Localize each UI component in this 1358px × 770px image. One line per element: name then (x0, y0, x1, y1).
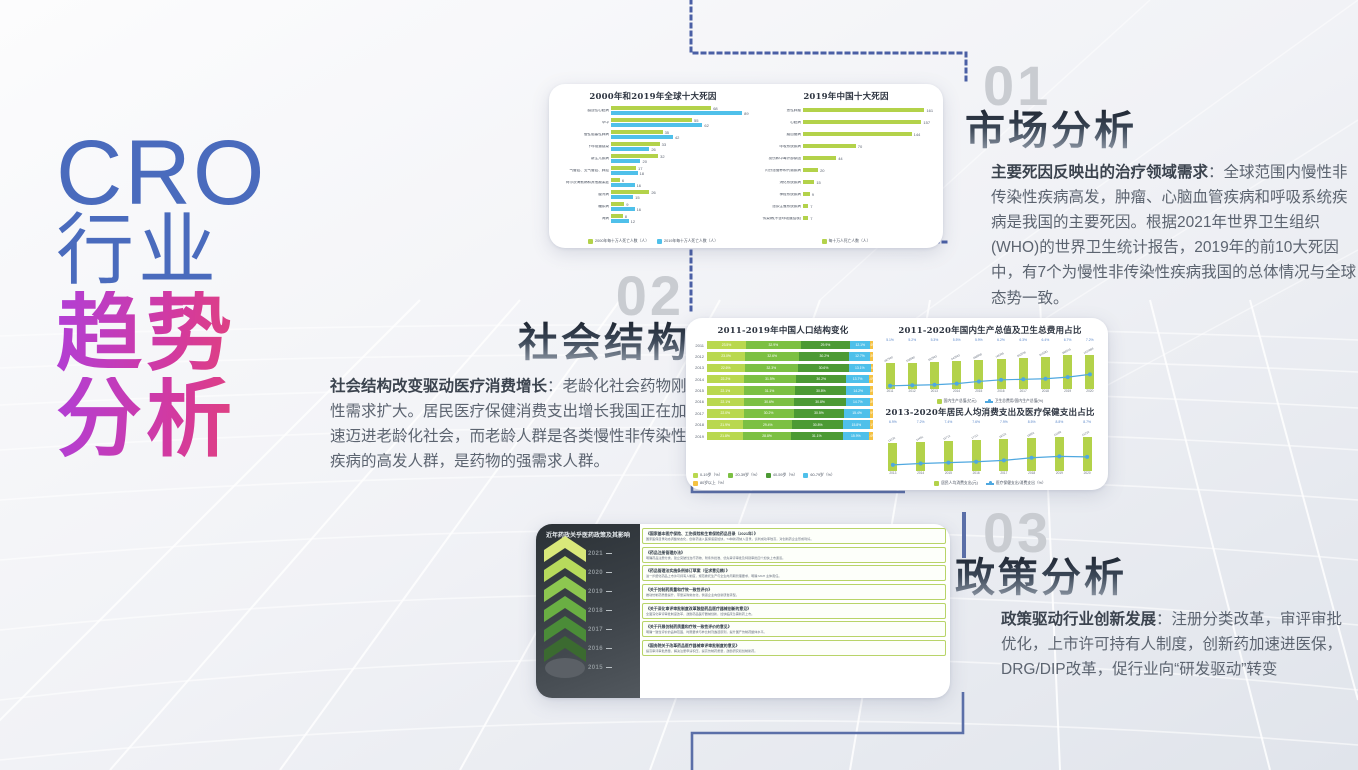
chart-china-top10-legend: 每十万人死亡人数（人） (757, 239, 935, 244)
connector-solid-bottom (692, 692, 963, 770)
legend-label: 0-19岁（%） (700, 473, 722, 478)
chart-x-tick: 2020 (1086, 389, 1093, 397)
section-02-body: 社会结构改变驱动医疗消费增长：老龄化社会药物刚性需求扩大。居民医疗保健消费支出增… (330, 374, 690, 474)
chart-bar-row: 气管癌、支气管癌、肺癌1718 (555, 165, 751, 176)
chart-bar-value: 9 (812, 193, 814, 197)
policy-item-detail: 推动仿制药质量提升，带量采购常态化，倒逼企业向创新研发转型。 (646, 593, 942, 597)
policy-item-detail: 提高审评审批质量，解决注册申请积压，提高仿制药质量，鼓励研究和创制新药。 (646, 649, 942, 653)
title-line-qushi: 趋势 (56, 291, 356, 375)
chart-bar (803, 120, 921, 124)
stacked-bar: 21.8%28.8%31.1%15.9%2.4% (707, 432, 873, 441)
chart-bar-track: 144 (803, 129, 935, 140)
chart-bar-value: 89 (744, 112, 748, 116)
timeline-year-label: 2017 (588, 627, 603, 633)
chart-bar-row: 传染病(不含呼吸道结核)7 (757, 213, 935, 224)
chart-bar-value: 6 (622, 179, 624, 183)
chart-bar-track: 916 (611, 201, 751, 212)
timeline-year: 2021 (588, 544, 638, 563)
chart-bar-value: 9 (626, 203, 628, 207)
chart-bar (803, 168, 818, 172)
chart-bar (611, 207, 635, 211)
chart-bar-track: 3220 (611, 153, 751, 164)
chart-bar (611, 166, 636, 170)
chart-bar-track: 6889 (611, 105, 751, 116)
legend-label: 20-39岁（%） (735, 473, 759, 478)
chart-bar-label: 恶性肿瘤 (757, 109, 803, 113)
legend-swatch-icon (588, 239, 593, 244)
chart-bar (611, 190, 649, 194)
stacked-bar-segment: 22.2% (707, 375, 744, 384)
chart-bar (611, 130, 663, 134)
stacked-bar-segment: 21.8% (707, 432, 743, 441)
policy-timeline-left: 近年药政关乎医药政策及其影响 2021202020192018201720162… (536, 524, 640, 698)
chart-bar-track: 70 (803, 141, 935, 152)
chart-bar-row: 缺血性心脏病6889 (555, 105, 751, 116)
stacked-bar-segment: 12.1% (850, 341, 870, 350)
timeline-year-label: 2019 (588, 589, 603, 595)
chart-bar-track: 44 (803, 153, 935, 164)
policy-item-heading: 《国家基本医疗保险、工伤保险和生育保险药品目录（2021年）》 (646, 531, 942, 536)
chart-bar-value: 8 (625, 215, 627, 219)
chart-gdp-health: 2011-2020年国内生产总值及卫生总费用占比 5.1%5.2%5.3%5.5… (879, 324, 1101, 404)
timeline-tick-icon (606, 591, 612, 592)
chart-population-structure: 2011-2019年中国人口结构变化 201123.5%32.9%29.9%12… (693, 324, 873, 486)
stacked-bar-segment: 30.8% (792, 420, 843, 429)
policy-item[interactable]: 《关于开展仿制药质量和疗效一致性评价的意见》明确一致性评价的品种范围、时限要求与… (642, 621, 946, 637)
policy-item[interactable]: 《国务院关于改革药品医疗器械审评审批制度的意见》提高审评审批质量，解决注册申请积… (642, 640, 946, 656)
chart-global-top10: 2000年和2019年全球十大死因 缺血性心脏病6889卒中5562慢性阻塞性肺… (555, 90, 751, 244)
timeline-year-label: 2018 (588, 608, 603, 614)
chart-x-axis: 2011201220132014201520162017201820192020 (879, 389, 1101, 397)
chart-line-overlay (879, 420, 1101, 490)
chart-bar-label: 肾病 (555, 217, 611, 221)
chart-bar (803, 156, 836, 160)
chart-x-tick: 2014 (953, 389, 960, 397)
chart-population-structure-legend: 0-19岁（%）20-39岁（%）40-59岁（%）60-79岁（%）80岁以上… (693, 473, 873, 486)
section-02-lead: 社会结构改变驱动医疗消费增长 (330, 378, 547, 395)
title-line-fenxi: 分析 (56, 377, 356, 461)
chart-x-tick: 2013 (889, 471, 896, 479)
chart-bar-label: 心脏病 (757, 121, 803, 125)
chart-bar (803, 216, 808, 220)
section-01-heading: 市场分析 (965, 108, 1357, 154)
chart-bar-row: 恶性肿瘤161 (757, 105, 935, 116)
chart-bar (803, 204, 808, 208)
chart-bar (611, 123, 702, 127)
chart-bar (611, 142, 660, 146)
timeline-year-label: 2020 (588, 570, 603, 576)
stacked-bar-year: 2014 (693, 377, 707, 382)
stacked-bar: 22.2%31.5%30.2%13.7%2.4% (707, 375, 873, 384)
chart-china-top10: 2019年中国十大死因 恶性肿瘤161心脏病157脑血管病144呼吸系统疾病70… (751, 90, 935, 244)
policy-item[interactable]: 《关于仿制药质量和疗效一致性评价》推动仿制药质量提升，带量采购常态化，倒逼企业向… (642, 584, 946, 600)
chart-x-tick: 2017 (1000, 471, 1007, 479)
section-01-body: 主要死因反映出的治疗领域需求：全球范围内慢性非传染性疾病高发，肿瘤、心脑血管疾病… (991, 160, 1357, 311)
timeline-chevrons (544, 536, 586, 692)
stacked-bar-segment: 15.4% (844, 409, 870, 418)
legend-item-3: 60-79岁（%） (803, 473, 834, 478)
chart-bar-label: 慢性阻塞性肺病 (555, 133, 611, 137)
section-03: 03 政策分析 政策驱动行业创新发展：注册分类改革，审评审批优化，上市许可持有人… (955, 505, 1355, 682)
stacked-bar-row: 201422.2%31.5%30.2%13.7%2.4% (693, 374, 873, 384)
policy-item-heading: 《药品管理法实施条例修订草案（征求意见稿）》 (646, 568, 942, 573)
chart-x-tick: 2011 (887, 389, 894, 397)
chart-x-tick: 2019 (1064, 389, 1071, 397)
legend-item-0: 2000年每十万人死亡人数（人） (588, 239, 649, 244)
chart-bar-value: 70 (858, 145, 862, 149)
chart-bar (611, 135, 673, 139)
chart-bar-value: 44 (838, 157, 842, 161)
legend-label: 2000年每十万人死亡人数（人） (595, 239, 649, 244)
stacked-bar-segment: 22.1% (707, 386, 744, 395)
stacked-bar-segment: 14.2% (846, 386, 870, 395)
policy-item-detail: 全面深化审评审批制度改革，鼓励药品医疗器械创新，加快临床急需新药上市。 (646, 612, 942, 616)
chart-global-top10-title: 2000年和2019年全球十大死因 (555, 90, 751, 102)
stacked-bar-segment: 30.2% (796, 375, 846, 384)
chart-bar-row: 腹泻病2615 (555, 189, 751, 200)
chart-bar-value: 35 (665, 131, 669, 135)
stacked-bar-segment: 30.8% (794, 398, 845, 407)
legend-swatch-icon (985, 401, 993, 403)
stacked-bar-year: 2013 (693, 365, 707, 370)
chart-bar-value: 161 (926, 109, 933, 113)
stacked-bar-row: 201123.5%32.9%29.9%12.1%1.6% (693, 340, 873, 350)
chart-gdp-health-title: 2011-2020年国内生产总值及卫生总费用占比 (879, 324, 1101, 336)
stacked-bar-row: 201722.0%30.2%30.5%15.4%1.9% (693, 408, 873, 418)
chart-bar-row: 糖尿病916 (555, 201, 751, 212)
policy-item-heading: 《药品注册管理办法》 (646, 550, 942, 555)
chart-bar-label: 缺血性心脏病 (555, 109, 611, 113)
connector-dotted-card02 (691, 242, 950, 310)
chart-bar-value: 32 (660, 155, 664, 159)
stacked-bar-segment: 32.3% (745, 364, 799, 373)
chart-bar-row: 呼吸系统疾病70 (757, 141, 935, 152)
chart-bar-label: 阿尔茨海默病和其他痴呆症 (555, 181, 611, 185)
chart-x-tick: 2020 (1084, 471, 1091, 479)
chart-bar (803, 192, 810, 196)
timeline-year-label: 2021 (588, 551, 603, 557)
card-social-structure[interactable]: 2011-2019年中国人口结构变化 201123.5%32.9%29.9%12… (686, 318, 1108, 490)
stacked-bar-segment: 30.6% (798, 364, 849, 373)
stacked-bar-segment: 28.8% (743, 432, 791, 441)
card-market-analysis[interactable]: 2000年和2019年全球十大死因 缺血性心脏病6889卒中5562慢性阻塞性肺… (549, 84, 943, 248)
stacked-bar-segment: 22.6% (707, 364, 745, 373)
chart-x-tick: 2016 (973, 471, 980, 479)
policy-item-detail: 明确药品注册分类，建立突破性治疗药物、附条件批准、优先审评审批及特别审批四个加快… (646, 556, 942, 560)
stacked-bar: 22.0%30.2%30.5%15.4%1.9% (707, 409, 873, 418)
chart-bar-track: 3326 (611, 141, 751, 152)
chart-bar-label: 腹泻病 (555, 193, 611, 197)
legend-label: 每十万人死亡人数（人） (829, 239, 871, 244)
chart-bar-label: 卒中 (555, 121, 611, 125)
chart-bar (611, 219, 629, 223)
timeline-year: 2018 (588, 601, 638, 620)
timeline-year-label: 2016 (588, 646, 603, 652)
chart-bar-value: 12 (631, 220, 635, 224)
legend-swatch-icon (766, 473, 771, 478)
chart-bar-value: 26 (651, 148, 655, 152)
section-02-heading: 社会结构 (330, 320, 690, 366)
stacked-bar-year: 2018 (693, 422, 707, 427)
chart-bar-label: 下呼吸道感染 (555, 145, 611, 149)
chart-bar-track: 812 (611, 213, 751, 224)
timeline-tick-icon (606, 553, 612, 554)
chart-bar-row: 新生儿疾病3220 (555, 153, 751, 164)
chart-bar (803, 144, 856, 148)
chart-x-tick: 2012 (909, 389, 916, 397)
chart-bar (611, 214, 623, 218)
chart-bar-track: 5562 (611, 117, 751, 128)
chart-bar-value: 16 (637, 208, 641, 212)
timeline-tick-icon (606, 610, 612, 611)
chart-bar-value: 15 (635, 196, 639, 200)
policy-item-detail: 明确一致性评价的品种范围、时限要求与参比制剂遴选原则，提升国产仿制药整体水平。 (646, 630, 942, 634)
stacked-bar-row: 201322.6%32.3%30.6%13.1%1.4% (693, 363, 873, 373)
chart-bar (611, 147, 649, 151)
stacked-bar: 22.6%32.3%30.6%13.1%1.4% (707, 364, 873, 373)
legend-swatch-icon (728, 473, 733, 478)
policy-item-heading: 《关于深化审评审批制度改革鼓励药品医疗器械创新的意见》 (646, 606, 942, 611)
timeline-year: 2020 (588, 563, 638, 582)
chart-bar-value: 157 (923, 121, 930, 125)
chart-x-tick: 2016 (997, 389, 1004, 397)
chart-bar-value: 144 (914, 133, 921, 137)
chart-bar-value: 17 (638, 167, 642, 171)
legend-item-4: 80岁以上（%） (693, 481, 727, 486)
chart-bar-value: 26 (651, 191, 655, 195)
chart-bar-track: 1718 (611, 165, 751, 176)
chart-bar (803, 180, 814, 184)
chart-x-tick: 2015 (975, 389, 982, 397)
chart-bar (803, 108, 924, 112)
policy-item-heading: 《国务院关于改革药品医疗器械审评审批制度的意见》 (646, 643, 942, 648)
stacked-bar: 22.1%31.1%30.8%14.2%1.8% (707, 386, 873, 395)
chart-bar (611, 106, 711, 110)
timeline-tick-icon (606, 572, 612, 573)
stacked-bar-segment: 31.1% (791, 432, 843, 441)
section-01-lead: 主要死因反映出的治疗领域需求 (991, 164, 1208, 181)
stacked-bar-row: 201622.1%30.6%30.8%14.7%1.8% (693, 397, 873, 407)
chart-global-top10-legend: 2000年每十万人死亡人数（人）2019年每十万人死亡人数（人） (555, 239, 751, 244)
chart-bar-row: 消化系统疾病15 (757, 177, 935, 188)
timeline-year: 2015 (588, 658, 638, 677)
chart-bar-value: 42 (675, 136, 679, 140)
chart-bar (611, 202, 624, 206)
legend-item-0: 0-19岁（%） (693, 473, 722, 478)
chart-bar-value: 68 (713, 107, 717, 111)
policy-timeline-boxes: 《国家基本医疗保险、工伤保险和生育保险药品目录（2021年）》国家医保目录动态调… (640, 524, 950, 698)
title-line-hangye: 行业 (56, 212, 356, 288)
chart-bar-row: 心脏病157 (757, 117, 935, 128)
stacked-bar-segment: 30.6% (744, 398, 795, 407)
chart-bar (611, 154, 658, 158)
legend-swatch-icon (657, 239, 662, 244)
stacked-bar-segment: 29.4% (743, 420, 792, 429)
stacked-bar-year: 2019 (693, 434, 707, 439)
chart-x-tick: 2014 (917, 471, 924, 479)
stacked-bar-segment: 30.2% (799, 352, 849, 361)
chart-bar-label: 神经系统疾病 (757, 193, 803, 197)
stacked-bar-year: 2012 (693, 354, 707, 359)
legend-swatch-icon (803, 473, 808, 478)
timeline-year-list: 2021202020192018201720162015 (588, 544, 638, 677)
stacked-bar-row: 201821.9%29.4%30.8%15.8%2.1% (693, 420, 873, 430)
legend-item-0: 每十万人死亡人数（人） (822, 239, 871, 244)
chart-bar-track: 157 (803, 117, 935, 128)
chart-bar-row: 肾病812 (555, 213, 751, 224)
chart-china-top10-title: 2019年中国十大死因 (757, 90, 935, 102)
chart-bar-track: 7 (803, 201, 935, 212)
chart-bar-row: 下呼吸道感染3326 (555, 141, 751, 152)
section-02-number: 02 (330, 268, 684, 324)
stacked-bar-row: 201223.0%32.6%30.2%12.7%1.5% (693, 351, 873, 361)
legend-label: 40-59岁（%） (773, 473, 797, 478)
chart-bar-label: 糖尿病 (555, 205, 611, 209)
timeline-year: 2019 (588, 582, 638, 601)
stacked-bar: 23.0%32.6%30.2%12.7%1.5% (707, 352, 873, 361)
stacked-bar-segment: 29.9% (801, 341, 851, 350)
chart-bar-label: 损伤和中毒外部原因 (757, 157, 803, 161)
chart-x-tick: 2017 (1020, 389, 1027, 397)
stacked-bar-row: 201921.8%28.8%31.1%15.9%2.4% (693, 431, 873, 441)
stacked-bar-segment: 31.1% (744, 386, 796, 395)
legend-item-2: 40-59岁（%） (766, 473, 797, 478)
chart-bar-label: 内分泌营养和代谢疾病 (757, 169, 803, 173)
chart-bar-row: 泌尿生殖系统疾病7 (757, 201, 935, 212)
stacked-bar: 23.5%32.9%29.9%12.1%1.6% (707, 341, 873, 350)
policy-item[interactable]: 《关于深化审评审批制度改革鼓励药品医疗器械创新的意见》全面深化审评审批制度改革，… (642, 603, 946, 619)
chart-bar-label: 消化系统疾病 (757, 181, 803, 185)
chart-bar-track: 9 (803, 189, 935, 200)
legend-item-1: 20-39岁（%） (728, 473, 759, 478)
chart-bar-row: 损伤和中毒外部原因44 (757, 153, 935, 164)
section-03-lead: 政策驱动行业创新发展 (1001, 611, 1156, 628)
chart-bar-track: 15 (803, 177, 935, 188)
timeline-tick-icon (606, 648, 612, 649)
section-01-text: ：全球范围内慢性非传染性疾病高发，肿瘤、心脑血管疾病和呼吸系统疾病是我国的主要死… (991, 164, 1356, 307)
legend-item-1: 2019年每十万人死亡人数（人） (657, 239, 718, 244)
chart-bar-value: 55 (694, 119, 698, 123)
section-03-number: 03 (983, 505, 1355, 561)
chart-bar-track: 161 (803, 105, 935, 116)
timeline-tick-icon (606, 667, 612, 668)
stacked-bar-segment: 32.6% (745, 352, 799, 361)
timeline-year-label: 2015 (588, 665, 603, 671)
timeline-year: 2016 (588, 639, 638, 658)
section-01: 01 市场分析 主要死因反映出的治疗领域需求：全球范围内慢性非传染性疾病高发，肿… (965, 58, 1357, 311)
chart-bar (611, 183, 635, 187)
chart-bar (611, 111, 742, 115)
chart-bar (803, 132, 912, 136)
chart-bar-value: 62 (704, 124, 708, 128)
policy-item-heading: 《关于开展仿制药质量和疗效一致性评价的意见》 (646, 624, 942, 629)
chart-x-tick: 2019 (1056, 471, 1063, 479)
stacked-bar-segment: 22.1% (707, 398, 744, 407)
stacked-bar: 22.1%30.6%30.8%14.7%1.8% (707, 398, 873, 407)
stacked-bar-row: 201522.1%31.1%30.8%14.2%1.8% (693, 386, 873, 396)
chart-bar-value: 33 (662, 143, 666, 147)
chart-bar (611, 118, 692, 122)
stacked-bar-year: 2016 (693, 399, 707, 404)
card-policy-analysis[interactable]: 近年药政关乎医药政策及其影响 2021202020192018201720162… (536, 524, 950, 698)
section-03-heading: 政策分析 (955, 555, 1355, 601)
page-title: CRO 行业 趋势 分析 (56, 128, 356, 461)
section-03-body: 政策驱动行业创新发展：注册分类改革，审评审批优化，上市许可持有人制度，创新药加速… (1001, 607, 1351, 682)
policy-item-heading: 《关于仿制药质量和疗效一致性评价》 (646, 587, 942, 592)
stacked-bar-segment: 14.7% (846, 398, 870, 407)
title-line-cro: CRO (56, 128, 356, 218)
section-01-number: 01 (983, 58, 1357, 114)
stacked-bar-segment: 30.5% (794, 409, 845, 418)
chart-bar-label: 气管癌、支气管癌、肺癌 (555, 169, 611, 173)
chart-bar-row: 神经系统疾病9 (757, 189, 935, 200)
policy-item-detail: 进一步细化药品上市许可持有人制度，规范委托生产与全生命周期管理要求，明确 MAH… (646, 574, 942, 578)
chart-bar-value: 20 (820, 169, 824, 173)
chart-bar (611, 178, 620, 182)
chart-bar-label: 新生儿疾病 (555, 157, 611, 161)
stacked-bar-segment: 30.8% (795, 386, 846, 395)
stacked-bar-segment: 15.9% (843, 432, 869, 441)
connector-dotted-top (691, 0, 966, 80)
chart-bar-label: 传染病(不含呼吸道结核) (757, 217, 803, 221)
chart-bar-label: 脑血管病 (757, 133, 803, 137)
stacked-bar-segment: 13.1% (849, 364, 871, 373)
legend-label: 80岁以上（%） (700, 481, 727, 486)
stacked-bar-segment: 32.9% (746, 341, 801, 350)
policy-item[interactable]: 《药品管理法实施条例修订草案（征求意见稿）》进一步细化药品上市许可持有人制度，规… (642, 565, 946, 581)
chart-bar-value: 7 (810, 217, 812, 221)
chart-bar-track: 2615 (611, 189, 751, 200)
chart-bar-value: 15 (816, 181, 820, 185)
stacked-bar-year: 2011 (693, 343, 707, 348)
legend-swatch-icon (693, 473, 698, 478)
chart-bar-track: 616 (611, 177, 751, 188)
stacked-bar-segment: 12.7% (849, 352, 870, 361)
stacked-bar-year: 2015 (693, 388, 707, 393)
chart-bar-value: 20 (642, 160, 646, 164)
chart-bar-row: 慢性阻塞性肺病3542 (555, 129, 751, 140)
stacked-bar-segment: 31.5% (744, 375, 796, 384)
stacked-bar-segment: 30.2% (744, 409, 794, 418)
chart-bar-track: 7 (803, 213, 935, 224)
chart-bar-row: 卒中5562 (555, 117, 751, 128)
chart-bar-value: 18 (640, 172, 644, 176)
chart-x-tick: 2015 (945, 471, 952, 479)
stacked-bar-segment: 23.5% (707, 341, 746, 350)
chart-bar-row: 阿尔茨海默病和其他痴呆症616 (555, 177, 751, 188)
chart-bar (611, 195, 633, 199)
stacked-bar-year: 2017 (693, 411, 707, 416)
section-02: 02 社会结构 社会结构改变驱动医疗消费增长：老龄化社会药物刚性需求扩大。居民医… (330, 268, 690, 474)
stacked-bar-segment: 22.0% (707, 409, 744, 418)
legend-label: 60-79岁（%） (810, 473, 834, 478)
chart-bar-track: 20 (803, 165, 935, 176)
chart-bar-track: 3542 (611, 129, 751, 140)
chart-bar-row: 内分泌营养和代谢疾病20 (757, 165, 935, 176)
policy-item[interactable]: 《国家基本医疗保险、工伤保险和生育保险药品目录（2021年）》国家医保目录动态调… (642, 528, 946, 544)
chart-x-tick: 2018 (1028, 471, 1035, 479)
chart-bar-label: 泌尿生殖系统疾病 (757, 205, 803, 209)
stacked-bar-segment: 13.7% (846, 375, 869, 384)
chart-population-structure-title: 2011-2019年中国人口结构变化 (693, 324, 873, 336)
stacked-bar-segment: 21.9% (707, 420, 743, 429)
chart-bar-label: 呼吸系统疾病 (757, 145, 803, 149)
stacked-bar-segment: 23.0% (707, 352, 745, 361)
policy-item[interactable]: 《药品注册管理办法》明确药品注册分类，建立突破性治疗药物、附条件批准、优先审评审… (642, 547, 946, 563)
chart-x-tick: 2013 (931, 389, 938, 397)
chart-x-axis: 20132014201520162017201820192020 (879, 471, 1101, 479)
chart-bar (611, 171, 638, 175)
